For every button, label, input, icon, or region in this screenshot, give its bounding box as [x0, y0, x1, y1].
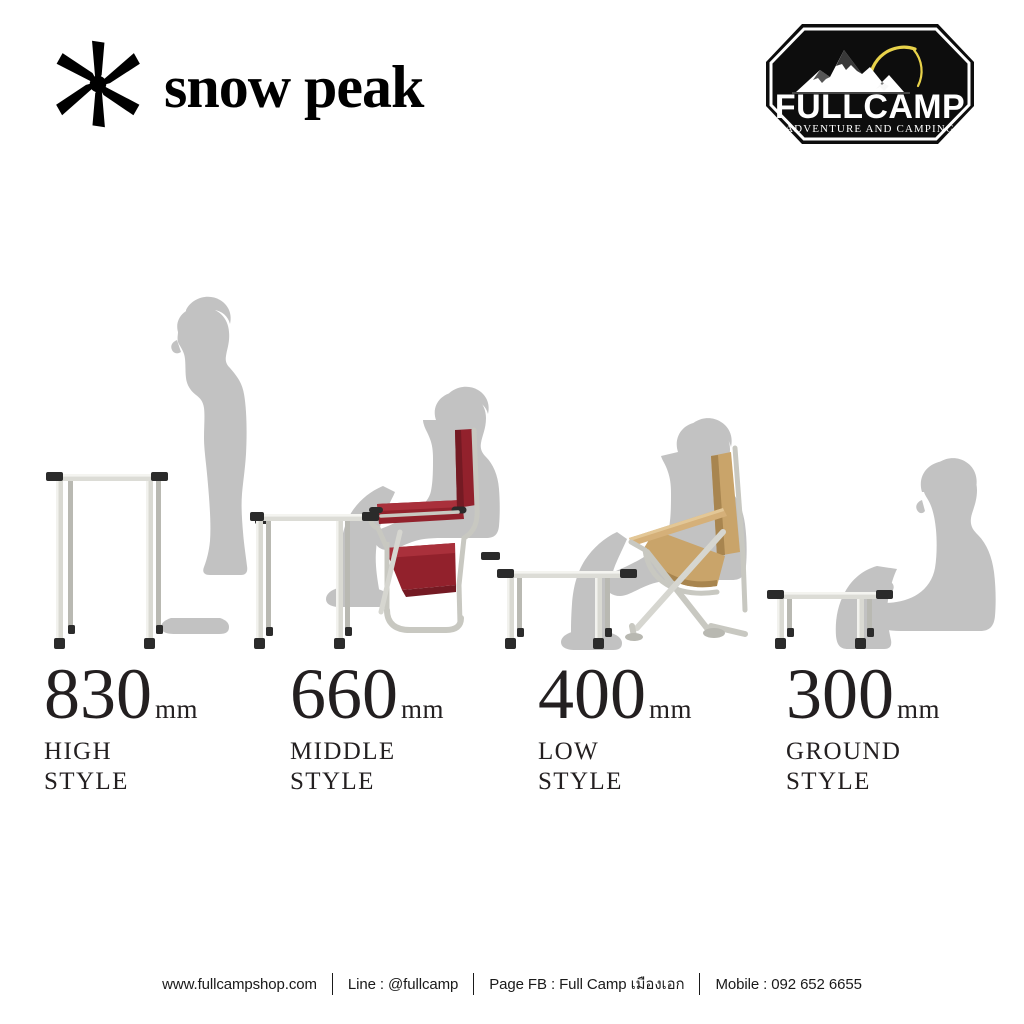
scene-middle-style: [250, 280, 500, 660]
caption-middle-style: 660 mm MIDDLE STYLE: [290, 660, 444, 796]
scene-ground-style: [755, 280, 1005, 660]
style-name-ground: GROUND STYLE: [786, 737, 940, 796]
footer-facebook-page[interactable]: Page FB : Full Camp เมืองเอก: [474, 972, 699, 996]
measure-unit-high: mm: [155, 696, 198, 723]
footer-line-id[interactable]: Line : @fullcamp: [333, 976, 473, 993]
caption-low-style: 400 mm LOW STYLE: [538, 660, 692, 796]
style-name-high-line2: STYLE: [44, 767, 198, 797]
measure-value-ground: 300: [786, 660, 894, 728]
caption-ground-style: 300 mm GROUND STYLE: [786, 660, 940, 796]
measure-high: 830 mm: [44, 660, 198, 728]
measure-unit-low: mm: [649, 696, 692, 723]
caption-high-style: 830 mm HIGH STYLE: [44, 660, 198, 796]
style-illustrations: [0, 270, 1024, 660]
fullcamp-badge: FULLCAMP ADVENTURE AND CAMPING: [758, 22, 982, 146]
measure-low: 400 mm: [538, 660, 692, 728]
poster-canvas: snow peak: [0, 0, 1024, 1024]
style-name-low-line1: LOW: [538, 737, 692, 767]
measure-unit-ground: mm: [897, 696, 940, 723]
brand-wordmark: snow peak: [164, 57, 423, 117]
footer-website[interactable]: www.fullcampshop.com: [147, 976, 332, 993]
badge-title: FULLCAMP: [775, 88, 965, 126]
table-high-style: [46, 472, 168, 649]
measure-middle: 660 mm: [290, 660, 444, 728]
style-name-middle-line2: STYLE: [290, 767, 444, 797]
six-point-asterisk-icon: [52, 38, 144, 130]
style-name-high-line1: HIGH: [44, 737, 198, 767]
snow-peak-logo: snow peak: [52, 38, 423, 130]
contact-footer: www.fullcampshop.com Line : @fullcamp Pa…: [0, 972, 1024, 996]
scene-high-style: [30, 280, 270, 660]
style-name-low: LOW STYLE: [538, 737, 692, 796]
measure-value-low: 400: [538, 660, 646, 728]
style-captions: 830 mm HIGH STYLE 660 mm MIDDLE STYLE 40…: [0, 660, 1024, 810]
style-name-middle-line1: MIDDLE: [290, 737, 444, 767]
style-name-ground-line1: GROUND: [786, 737, 940, 767]
style-name-ground-line2: STYLE: [786, 767, 940, 797]
adjacent-table-edge: [481, 552, 495, 560]
style-name-middle: MIDDLE STYLE: [290, 737, 444, 796]
measure-value-middle: 660: [290, 660, 398, 728]
style-name-high: HIGH STYLE: [44, 737, 198, 796]
measure-ground: 300 mm: [786, 660, 940, 728]
footer-mobile[interactable]: Mobile : 092 652 6655: [700, 976, 876, 993]
measure-value-high: 830: [44, 660, 152, 728]
badge-subtitle: ADVENTURE AND CAMPING: [785, 123, 955, 135]
scene-low-style: [495, 280, 755, 660]
silhouette-standing-person: [161, 297, 247, 634]
measure-unit-middle: mm: [401, 696, 444, 723]
style-name-low-line2: STYLE: [538, 767, 692, 797]
